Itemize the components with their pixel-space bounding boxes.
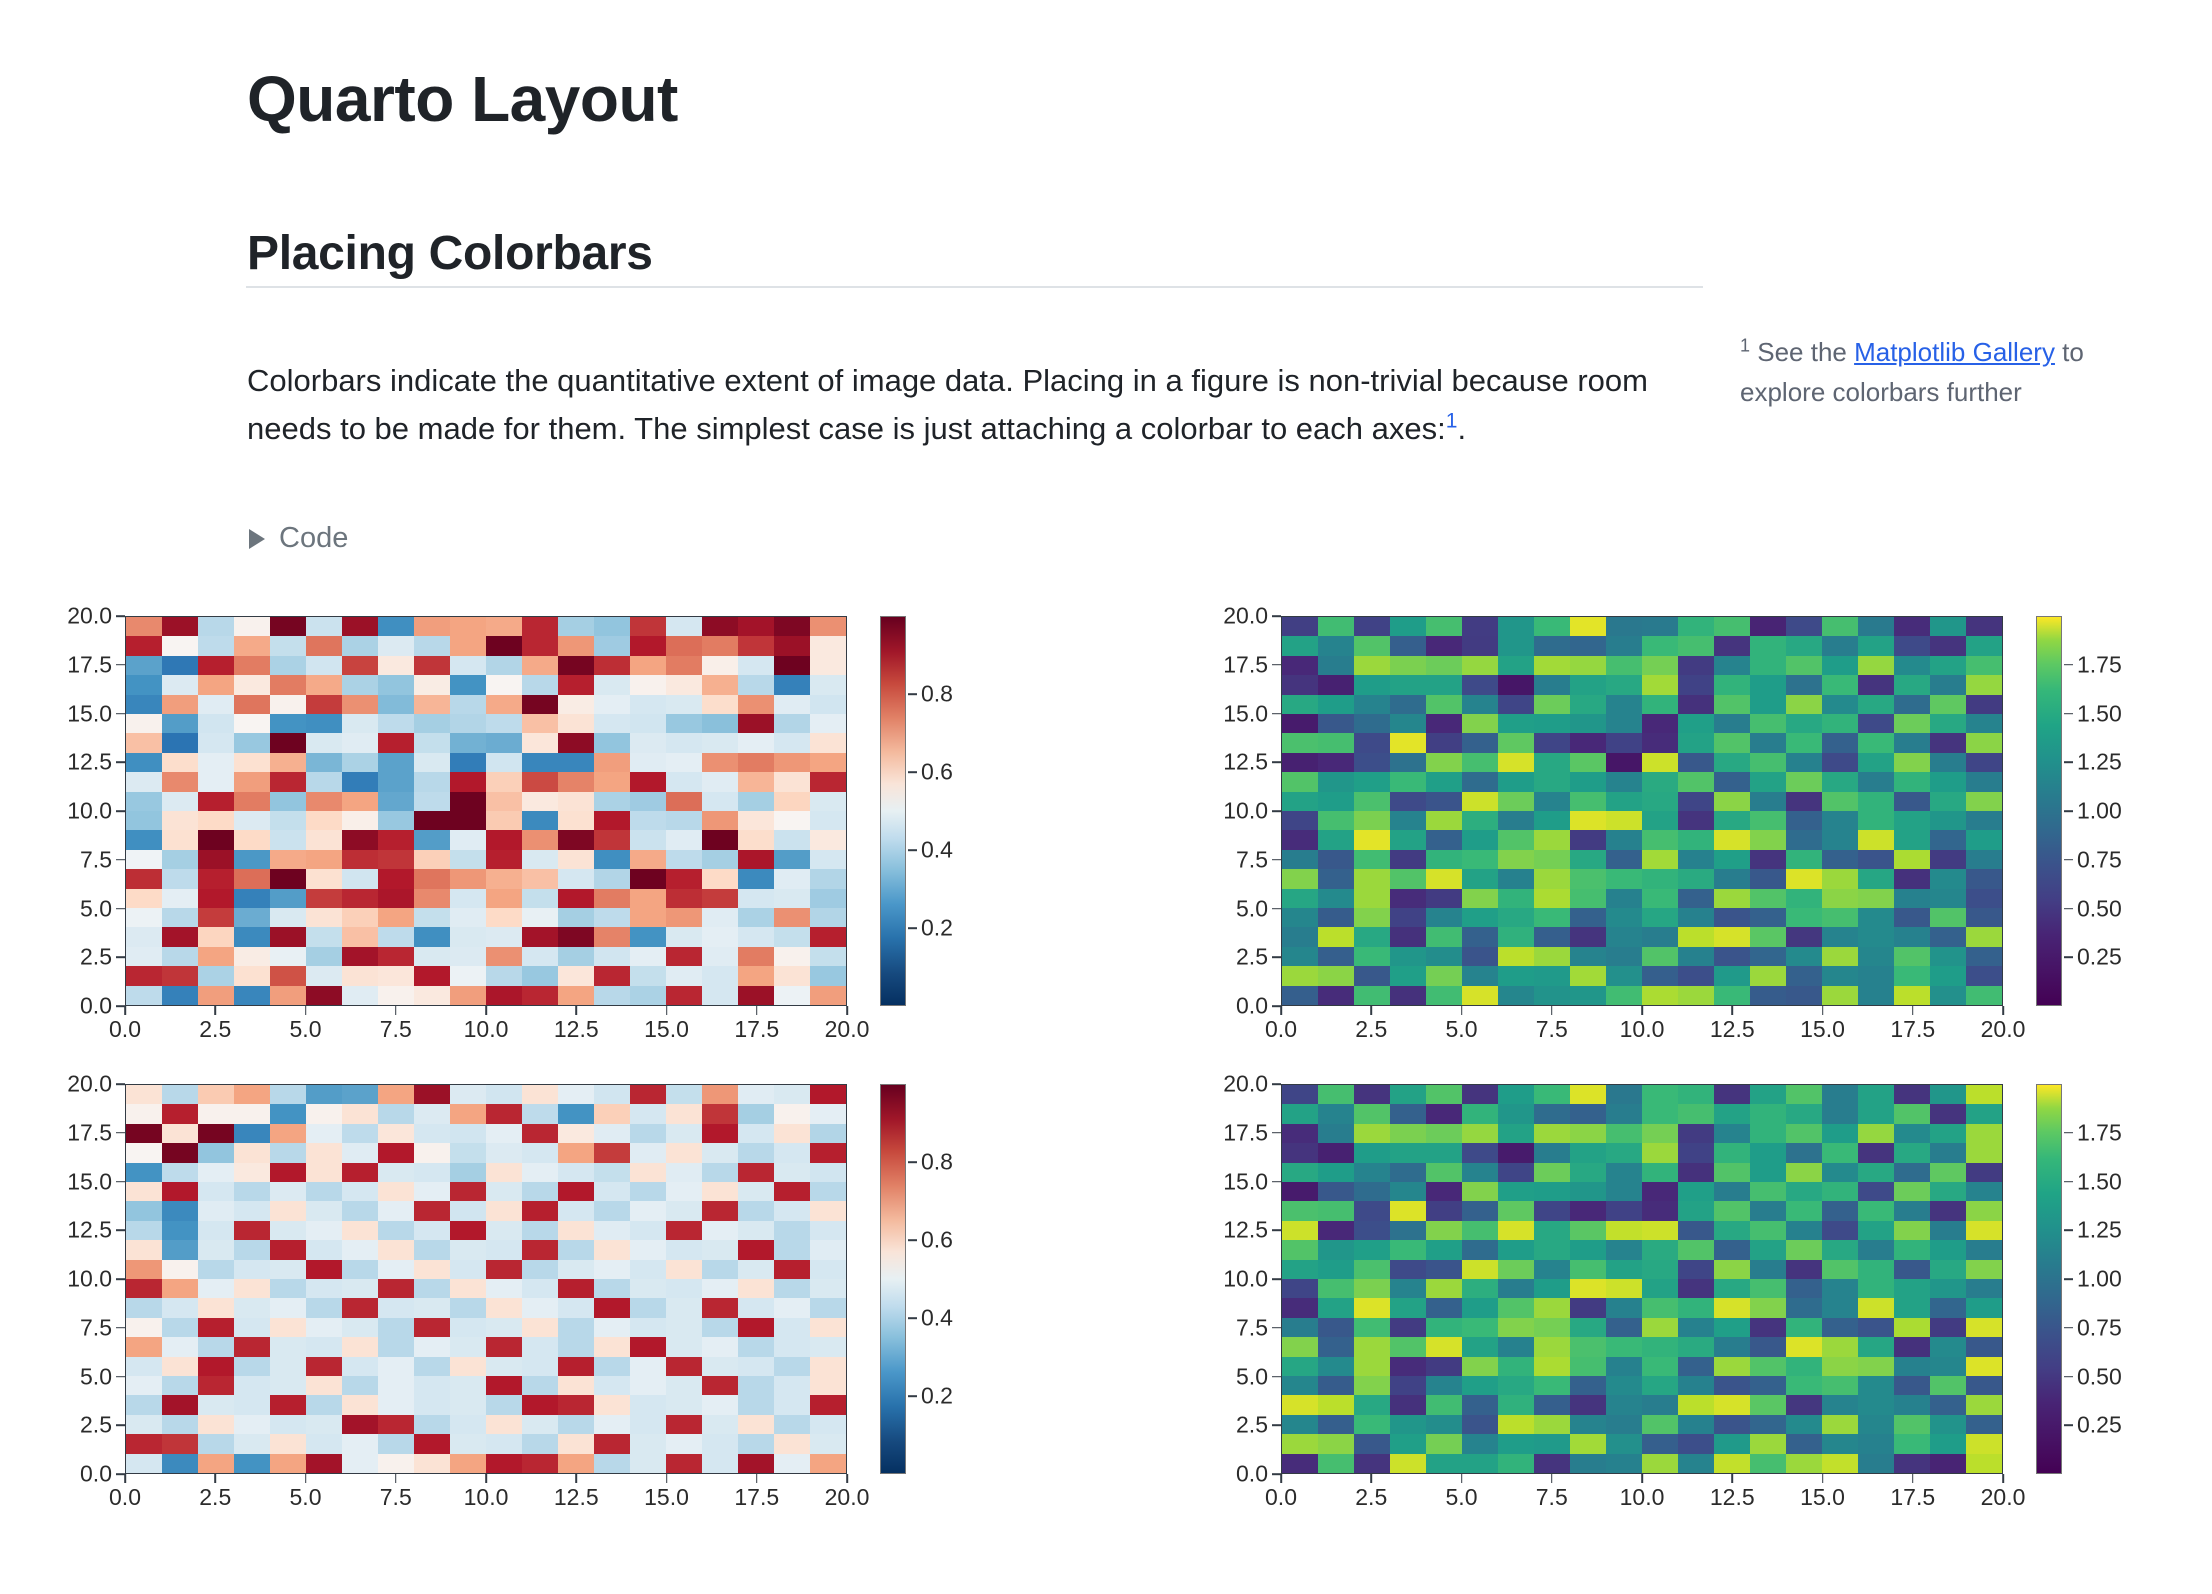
heatmap-cell: [1498, 811, 1534, 830]
x-axis-tick-mark: [666, 1006, 668, 1015]
heatmap-cell: [486, 1182, 522, 1201]
heatmap-cell: [1642, 1260, 1678, 1279]
heatmap-cell: [1678, 1260, 1714, 1279]
heatmap-cell: [774, 1124, 810, 1143]
heatmap-cell: [1426, 986, 1462, 1005]
heatmap-cell: [1426, 1298, 1462, 1317]
heatmap-cell: [1534, 1182, 1570, 1201]
heatmap-cell: [1462, 636, 1498, 655]
heatmap-cell: [414, 1454, 450, 1473]
heatmap-cell: [1822, 1395, 1858, 1414]
heatmap-cell: [1786, 695, 1822, 714]
heatmap-cell: [1750, 947, 1786, 966]
heatmap-cell: [1390, 966, 1426, 985]
heatmap-cell: [594, 1143, 630, 1162]
heatmap-cell: [738, 1201, 774, 1220]
heatmap-cell: [666, 1395, 702, 1414]
heatmap-cell: [1822, 1143, 1858, 1162]
heatmap-cell: [306, 1163, 342, 1182]
heatmap-cell: [666, 772, 702, 791]
heatmap-cell: [522, 1085, 558, 1104]
heatmap-cell: [1822, 753, 1858, 772]
heatmap-cell: [306, 889, 342, 908]
heatmap-cell: [1894, 1434, 1930, 1453]
heatmap-cell: [594, 966, 630, 985]
heatmap-cell: [522, 772, 558, 791]
x-axis-tick-label: 0.0: [1265, 1484, 1297, 1511]
heatmap-cell: [1534, 1163, 1570, 1182]
heatmap-cell: [1318, 675, 1354, 694]
heatmap-cell: [306, 1357, 342, 1376]
heatmap-cell: [234, 675, 270, 694]
heatmap-cell: [414, 772, 450, 791]
heatmap-cell: [738, 1279, 774, 1298]
heatmap-cell: [1498, 1085, 1534, 1104]
heatmap-cell: [1534, 1221, 1570, 1240]
heatmap-cell: [702, 636, 738, 655]
heatmap-cell: [558, 1395, 594, 1414]
margin-note-text-before: See the: [1750, 337, 1854, 367]
heatmap-cell: [1498, 869, 1534, 888]
heatmap-cell: [1390, 1279, 1426, 1298]
x-axis-tick-label: 7.5: [1536, 1484, 1568, 1511]
colorbar-tick-mark: [2064, 1181, 2073, 1183]
heatmap-cell: [450, 927, 486, 946]
heatmap-cell: [486, 811, 522, 830]
heatmap-cell: [450, 986, 486, 1005]
heatmap-cell: [1498, 1318, 1534, 1337]
heatmap-cell: [1318, 1104, 1354, 1123]
heatmap-cell: [1786, 714, 1822, 733]
matplotlib-gallery-link[interactable]: Matplotlib Gallery: [1854, 337, 2055, 367]
heatmap-cell: [1714, 1260, 1750, 1279]
section-heading: Placing Colorbars: [247, 226, 653, 281]
heatmap-cell: [1930, 1201, 1966, 1220]
x-axis-tick-mark: [1551, 1006, 1553, 1015]
heatmap-cell: [1894, 1104, 1930, 1123]
heatmap-cell: [1894, 1163, 1930, 1182]
heatmap-cell: [702, 1337, 738, 1356]
heatmap-cell: [1642, 986, 1678, 1005]
heatmap-cell: [1642, 1182, 1678, 1201]
heatmap-cell: [1318, 656, 1354, 675]
heatmap-cell: [1966, 850, 2002, 869]
heatmap-cell: [1354, 947, 1390, 966]
heatmap-cell: [630, 1143, 666, 1162]
heatmap-cell: [1462, 1221, 1498, 1240]
heatmap-cell: [666, 986, 702, 1005]
heatmap-cell: [306, 1182, 342, 1201]
heatmap-cell: [1894, 1337, 1930, 1356]
heatmap-cell: [522, 656, 558, 675]
heatmap-cell: [1786, 1221, 1822, 1240]
heatmap-cell: [1894, 772, 1930, 791]
heatmap-cell: [702, 986, 738, 1005]
heatmap-cell: [1498, 772, 1534, 791]
heatmap-cell: [126, 1415, 162, 1434]
heatmap-cell: [1498, 850, 1534, 869]
heatmap-cell: [522, 636, 558, 655]
heatmap-cell: [738, 927, 774, 946]
heatmap-cell: [198, 986, 234, 1005]
heatmap-cell: [774, 656, 810, 675]
heatmap-cell: [1750, 966, 1786, 985]
heatmap-cell: [1462, 1395, 1498, 1414]
heatmap-cell: [558, 1454, 594, 1473]
heatmap-cell: [1822, 1182, 1858, 1201]
heatmap-cell: [522, 1163, 558, 1182]
heatmap-cell: [342, 695, 378, 714]
heatmap-cell: [198, 1337, 234, 1356]
heatmap-cell: [234, 1240, 270, 1259]
heatmap-cell: [1786, 1201, 1822, 1220]
heatmap-cell: [774, 947, 810, 966]
heatmap-cell: [594, 695, 630, 714]
heatmap-cell: [450, 1201, 486, 1220]
heatmap-cell: [1606, 1143, 1642, 1162]
heatmap-cell: [666, 1124, 702, 1143]
heatmap-cell: [702, 1085, 738, 1104]
x-axis-tick-mark: [305, 1474, 307, 1483]
heatmap-cell: [450, 1182, 486, 1201]
heatmap-cell: [630, 1240, 666, 1259]
heatmap-cell: [1570, 1240, 1606, 1259]
heatmap-cell: [702, 830, 738, 849]
heatmap-cell: [738, 1104, 774, 1123]
heatmap-cell: [486, 830, 522, 849]
heatmap-cell: [1282, 850, 1318, 869]
heatmap-cell: [558, 617, 594, 636]
heatmap-cell: [666, 656, 702, 675]
heatmap-cell: [1858, 636, 1894, 655]
heatmap-cell: [1750, 1376, 1786, 1395]
heatmap-cell: [630, 695, 666, 714]
heatmap-cell: [486, 1221, 522, 1240]
heatmap-cell: [1282, 1318, 1318, 1337]
heatmap-cell: [270, 617, 306, 636]
heatmap-cell: [270, 1240, 306, 1259]
heatmap-cell: [270, 1434, 306, 1453]
heatmap-cell: [1390, 1201, 1426, 1220]
heatmap-cell: [1750, 986, 1786, 1005]
x-axis-tick-mark: [214, 1006, 216, 1015]
heatmap-cell: [342, 1318, 378, 1337]
heatmap-cell: [450, 1434, 486, 1453]
heatmap-cell: [1354, 1395, 1390, 1414]
heatmap-cell: [234, 966, 270, 985]
heatmap-cell: [1606, 695, 1642, 714]
heatmap-cell: [1966, 986, 2002, 1005]
heatmap-cell: [1822, 792, 1858, 811]
heatmap-cell: [1966, 1337, 2002, 1356]
heatmap-cell: [1282, 1260, 1318, 1279]
heatmap-cell: [558, 1279, 594, 1298]
heatmap-cell: [378, 1318, 414, 1337]
colorbar-tick-mark: [2064, 1327, 2073, 1329]
heatmap-cell: [1606, 1163, 1642, 1182]
heatmap-cell: [1786, 1143, 1822, 1162]
heatmap-cell: [1318, 966, 1354, 985]
heatmap-cell: [1858, 695, 1894, 714]
heatmap-cell: [1822, 986, 1858, 1005]
heatmap-cell: [1354, 966, 1390, 985]
body-paragraph-text: Colorbars indicate the quantitative exte…: [247, 363, 1648, 446]
heatmap-cell: [162, 1434, 198, 1453]
heatmap-cell: [270, 947, 306, 966]
heatmap-cell: [738, 1376, 774, 1395]
heatmap-cell: [1570, 714, 1606, 733]
colorbar-tick-mark: [2064, 908, 2073, 910]
heatmap-cell: [1498, 908, 1534, 927]
heatmap-cell: [630, 986, 666, 1005]
heatmap-cell: [1678, 1240, 1714, 1259]
code-disclosure-toggle[interactable]: Code: [249, 522, 348, 555]
heatmap-cell: [126, 1454, 162, 1473]
heatmap-cell: [522, 1201, 558, 1220]
heatmap-cell: [774, 811, 810, 830]
heatmap-cell: [1786, 1298, 1822, 1317]
heatmap-cell: [1282, 1240, 1318, 1259]
heatmap-cell: [1318, 1337, 1354, 1356]
heatmap-cell: [1642, 908, 1678, 927]
heatmap-cell: [1462, 1260, 1498, 1279]
heatmap-cell: [1678, 830, 1714, 849]
heatmap-cell: [450, 1104, 486, 1123]
heatmap-cell: [162, 753, 198, 772]
heatmap-cell: [630, 1434, 666, 1453]
x-axis-tick-label: 17.5: [734, 1016, 779, 1043]
heatmap-cell: [1930, 695, 1966, 714]
heatmap-cell: [270, 1201, 306, 1220]
heatmap-cell: [1390, 636, 1426, 655]
heatmap-cell: [126, 1395, 162, 1414]
heatmap-cell: [810, 1182, 846, 1201]
heatmap-cell: [162, 617, 198, 636]
heatmap-cell: [306, 966, 342, 985]
heatmap-cell: [1930, 1182, 1966, 1201]
heatmap-cell: [1318, 811, 1354, 830]
x-axis-tick-mark: [395, 1006, 397, 1015]
heatmap-cell: [1282, 947, 1318, 966]
heatmap-cell: [1822, 1318, 1858, 1337]
heatmap-cell: [810, 1104, 846, 1123]
heatmap-cell: [1606, 1454, 1642, 1473]
heatmap-cell: [378, 947, 414, 966]
heatmap-cell: [342, 636, 378, 655]
heatmap-cell: [1894, 1298, 1930, 1317]
heatmap-cell: [198, 617, 234, 636]
heatmap-cell: [522, 811, 558, 830]
heatmap-cell: [1822, 1085, 1858, 1104]
heatmap-cell: [306, 1201, 342, 1220]
heatmap-cell: [1390, 908, 1426, 927]
heatmap-cell: [1390, 1395, 1426, 1414]
heatmap-cell: [630, 1104, 666, 1123]
heatmap-cell: [1390, 695, 1426, 714]
heatmap-cell: [1498, 1279, 1534, 1298]
heatmap-cell: [1750, 636, 1786, 655]
heatmap-cell: [1534, 1318, 1570, 1337]
heatmap-cell: [1426, 908, 1462, 927]
heatmap-cell: [342, 733, 378, 752]
heatmap-cell: [450, 792, 486, 811]
x-axis-tick-mark: [2002, 1474, 2004, 1483]
heatmap-cell: [414, 986, 450, 1005]
heatmap-cell: [1318, 850, 1354, 869]
heatmap-cell: [738, 733, 774, 752]
heatmap-cell: [414, 1337, 450, 1356]
heatmap-cell: [810, 1376, 846, 1395]
heatmap-cell: [1570, 1395, 1606, 1414]
heatmap-cell: [378, 1395, 414, 1414]
heatmap-cell: [1930, 1318, 1966, 1337]
heatmap-cell: [1966, 1357, 2002, 1376]
heatmap-cell: [198, 792, 234, 811]
heatmap-cell: [810, 1124, 846, 1143]
heatmap-cell: [126, 1260, 162, 1279]
heatmap-cell: [378, 733, 414, 752]
heatmap-cell: [1894, 1240, 1930, 1259]
heatmap-cell: [306, 1376, 342, 1395]
heatmap-cell: [234, 1260, 270, 1279]
heatmap-cell: [630, 908, 666, 927]
heatmap-cell: [522, 1298, 558, 1317]
heatmap-cell: [1822, 1376, 1858, 1395]
x-axis-tick-label: 10.0: [1620, 1016, 1665, 1043]
heatmap-cell: [1822, 811, 1858, 830]
heatmap-cell: [774, 714, 810, 733]
heatmap-cell: [198, 733, 234, 752]
heatmap-cell: [1894, 617, 1930, 636]
heatmap-cell: [270, 986, 306, 1005]
heatmap-cell: [198, 772, 234, 791]
heatmap-cell: [1606, 986, 1642, 1005]
heatmap-cell: [1714, 1201, 1750, 1220]
heatmap-cell: [1282, 1454, 1318, 1473]
heatmap-cell: [234, 1395, 270, 1414]
heatmap-cell: [1822, 1201, 1858, 1220]
heatmap-cell: [1894, 656, 1930, 675]
heatmap-cell: [1714, 927, 1750, 946]
heatmap-cell: [630, 927, 666, 946]
heatmap-cell: [1822, 1415, 1858, 1434]
heatmap-cell: [270, 889, 306, 908]
heatmap-cell: [486, 1279, 522, 1298]
heatmap-cell: [1678, 1104, 1714, 1123]
heatmap-cell: [594, 947, 630, 966]
heatmap-cell: [270, 850, 306, 869]
heatmap-cell: [1498, 889, 1534, 908]
heatmap-cell: [1858, 947, 1894, 966]
heatmap-cell: [1534, 1143, 1570, 1162]
heatmap-cell: [1750, 1201, 1786, 1220]
heatmap-cell: [1966, 675, 2002, 694]
heatmap-cell: [306, 1143, 342, 1162]
heatmap-cell: [774, 1357, 810, 1376]
heatmap-cell: [594, 908, 630, 927]
heatmap-cell: [522, 714, 558, 733]
heatmap-cell: [126, 772, 162, 791]
footnote-reference-link[interactable]: 1: [1446, 410, 1458, 433]
heatmap-cell: [378, 830, 414, 849]
heatmap-cell: [1282, 733, 1318, 752]
heatmap-cell: [1822, 947, 1858, 966]
heatmap-cell: [1426, 714, 1462, 733]
heatmap-cell: [126, 675, 162, 694]
heatmap-cell: [1966, 908, 2002, 927]
heatmap-cell: [1966, 695, 2002, 714]
heatmap-cell: [1426, 1454, 1462, 1473]
heatmap-cell: [1714, 850, 1750, 869]
heatmap-cell: [1642, 1395, 1678, 1414]
heatmap-cell: [270, 733, 306, 752]
heatmap-cell: [1462, 869, 1498, 888]
heatmap-cell: [306, 811, 342, 830]
heatmap-cell: [594, 1376, 630, 1395]
heatmap-cell: [1714, 830, 1750, 849]
heatmap-cell: [522, 986, 558, 1005]
heatmap-cell: [594, 1318, 630, 1337]
heatmap-cell: [1354, 695, 1390, 714]
heatmap-cell: [1498, 1260, 1534, 1279]
heatmap-cell: [234, 1298, 270, 1317]
heatmap-cell: [1534, 1454, 1570, 1473]
heatmap-cell: [270, 636, 306, 655]
heatmap-cell: [738, 1260, 774, 1279]
heatmap-cell: [1894, 714, 1930, 733]
heatmap-cell: [738, 1318, 774, 1337]
heatmap-cell: [774, 695, 810, 714]
x-axis-tick-mark: [575, 1474, 577, 1483]
heatmap-cell: [666, 889, 702, 908]
colorbar-tick-mark: [2064, 956, 2073, 958]
heatmap-cell: [1390, 733, 1426, 752]
heatmap-cell: [1930, 1221, 1966, 1240]
heatmap-cell: [1786, 986, 1822, 1005]
heatmap-cell: [378, 1357, 414, 1376]
heatmap-cell: [1966, 733, 2002, 752]
heatmap-cell: [486, 636, 522, 655]
heatmap-cell: [702, 1395, 738, 1414]
heatmap-cell: [1894, 1124, 1930, 1143]
colorbar-tick-mark: [2064, 859, 2073, 861]
heatmap-cell: [666, 908, 702, 927]
heatmap-cell: [1282, 1201, 1318, 1220]
heatmap-cell: [1534, 811, 1570, 830]
heatmap-cell: [198, 850, 234, 869]
heatmap-cell: [1786, 966, 1822, 985]
heatmap-cell: [162, 927, 198, 946]
heatmap-cell: [1318, 889, 1354, 908]
heatmap-cell: [450, 1454, 486, 1473]
x-axis-tick-mark: [124, 1474, 126, 1483]
section-divider: [246, 286, 1703, 288]
heatmap-cell: [1570, 792, 1606, 811]
heatmap-cell: [774, 1221, 810, 1240]
heatmap-cell: [450, 850, 486, 869]
heatmap-cell: [162, 830, 198, 849]
heatmap-cell: [558, 947, 594, 966]
heatmap-cell: [162, 811, 198, 830]
heatmap-cell: [1498, 947, 1534, 966]
heatmap-cell: [1642, 792, 1678, 811]
heatmap-cell: [1750, 1337, 1786, 1356]
heatmap-cell: [1534, 1376, 1570, 1395]
heatmap-cell: [1966, 1143, 2002, 1162]
heatmap-cell: [1318, 1395, 1354, 1414]
heatmap-cell: [1930, 1357, 1966, 1376]
heatmap-cell: [1498, 1104, 1534, 1123]
